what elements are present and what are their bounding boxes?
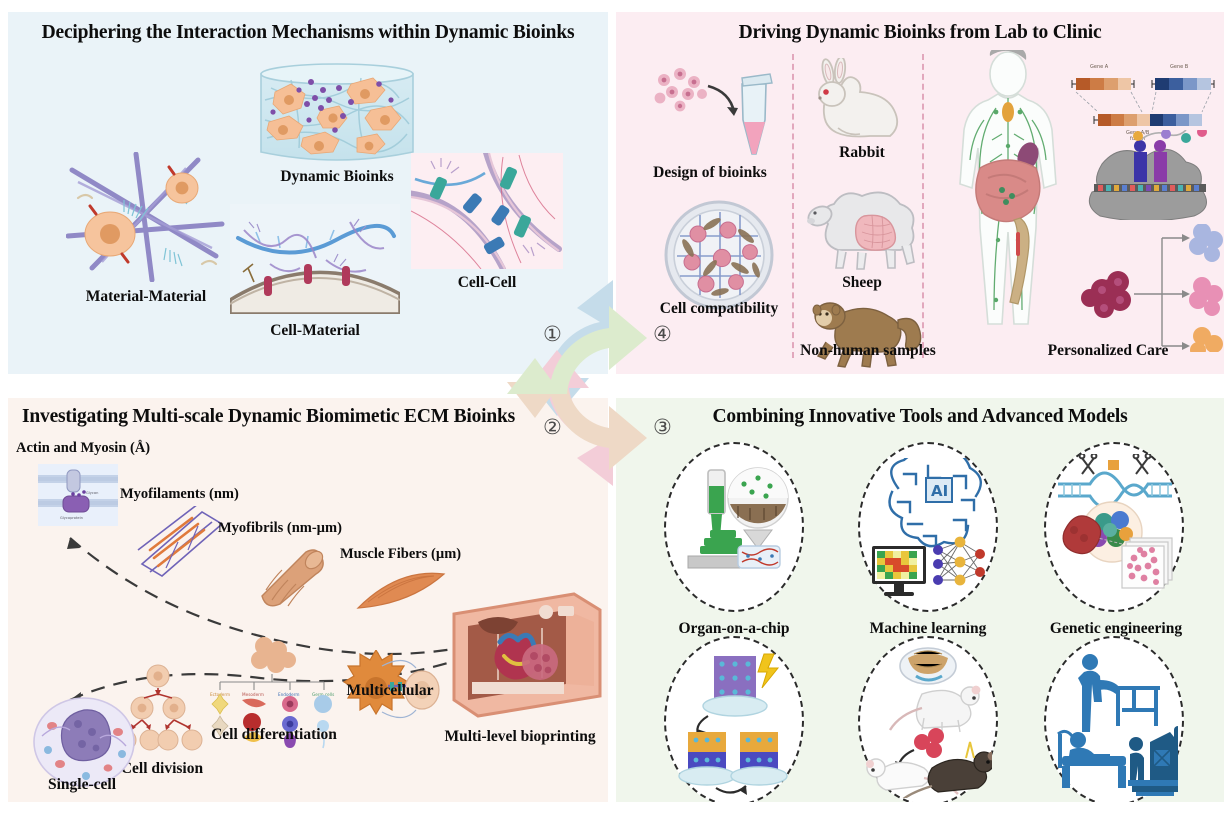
cell-cell-illustration <box>411 153 563 269</box>
design-of-bioinks-illustration <box>646 64 786 164</box>
gene-a-label: Gene A <box>1090 64 1108 70</box>
svg-text:AI: AI <box>931 482 948 500</box>
caption-dynamic-bioinks: Dynamic Bioinks <box>251 168 423 186</box>
cycle-number-2: ② <box>543 415 562 439</box>
caption-multi-level-bioprinting: Multi-level bioprinting <box>428 728 608 746</box>
material-material-illustration <box>66 152 226 282</box>
gene-b-label: Gene B <box>1170 64 1188 70</box>
bioprinter-illustration <box>442 586 606 722</box>
caption-design-of-bioinks: Design of bioinks <box>634 164 786 182</box>
cell-material-illustration <box>230 204 400 314</box>
cycle-number-4: ④ <box>653 322 672 346</box>
personalized-care-illustration <box>1076 224 1224 352</box>
rabbit-illustration <box>808 58 916 142</box>
shape-morph-icon <box>674 650 796 796</box>
crispr-dna-icon <box>1052 454 1178 604</box>
caption-single-cell: Single-cell <box>20 776 144 794</box>
caption-non-human-samples: Non-human samples <box>788 342 948 360</box>
caption-personalized-care: Personalized Care <box>998 342 1218 360</box>
cycle-number-1: ① <box>543 322 562 346</box>
cycle-number-3: ③ <box>653 415 672 439</box>
dynamic-bioinks-illustration <box>251 60 423 168</box>
caption-material-material: Material-Material <box>56 288 236 306</box>
svg-text:Mesoderm: Mesoderm <box>242 692 264 697</box>
factory-icon <box>1054 650 1178 796</box>
central-cycle: ① ④ ② ③ <box>505 278 729 506</box>
cycle-arrows <box>505 278 729 506</box>
sheep-illustration <box>802 188 926 272</box>
panel-title-top-left: Deciphering the Interaction Mechanisms w… <box>8 22 608 44</box>
figure-root: Deciphering the Interaction Mechanisms w… <box>0 0 1232 813</box>
panel-title-bottom-left: Investigating Multi-scale Dynamic Biomim… <box>22 406 515 428</box>
caption-rabbit: Rabbit <box>808 144 916 162</box>
ribosome-translation-illustration <box>1076 130 1222 220</box>
mouse-icon <box>866 646 992 798</box>
caption-cell-material: Cell-Material <box>230 322 400 340</box>
caption-multicellular: Multicellular <box>328 682 452 700</box>
arrow-step-2-shape <box>507 382 647 470</box>
caption-cell-differentiation: Cell differentiation <box>186 726 362 744</box>
ai-brain-icon: AI <box>868 458 988 600</box>
panel-title-top-right: Driving Dynamic Bioinks from Lab to Clin… <box>616 22 1224 44</box>
human-body-illustration <box>946 50 1070 350</box>
